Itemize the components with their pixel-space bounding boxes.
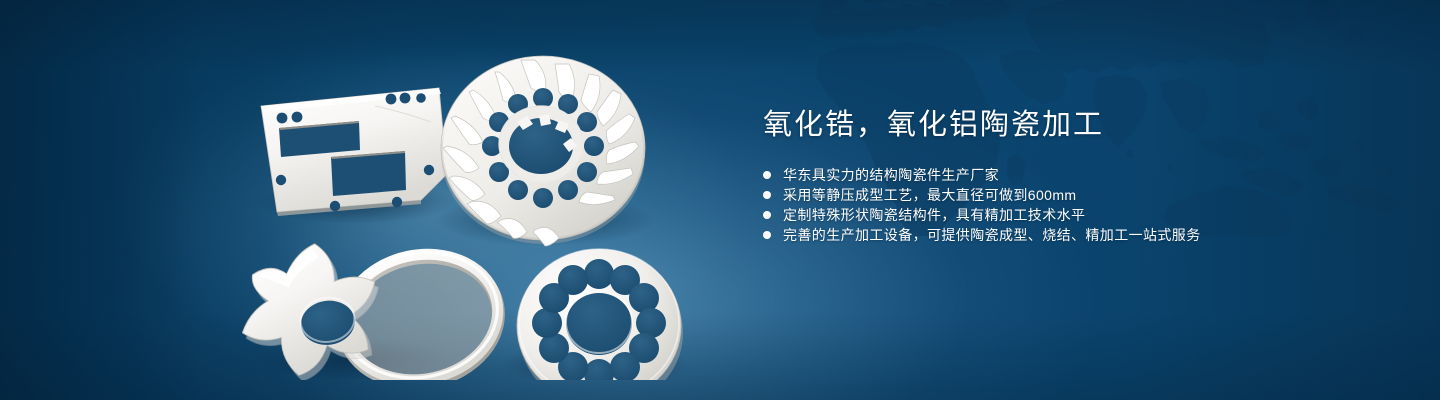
bullet-dot-icon [763,231,771,239]
bullet-dot-icon [763,171,771,179]
product-ceramic-plate [261,88,447,216]
bullet-dot-icon [763,211,771,219]
page-title: 氧化锆，氧化铝陶瓷加工 [763,108,1383,143]
product-ceramic-perforated-disc [517,249,683,380]
feature-text: 采用等静压成型工艺，最大直径可做到600mm [783,185,1076,205]
list-item: 华东具实力的结构陶瓷件生产厂家 [763,165,1383,185]
banner-text-block: 氧化锆，氧化铝陶瓷加工 华东具实力的结构陶瓷件生产厂家 采用等静压成型工艺，最大… [763,108,1383,245]
product-photo-collage [225,30,715,380]
feature-text: 完善的生产加工设备，可提供陶瓷成型、烧结、精加工一站式服务 [783,225,1201,245]
feature-text: 华东具实力的结构陶瓷件生产厂家 [783,165,999,185]
bullet-dot-icon [763,191,771,199]
list-item: 完善的生产加工设备，可提供陶瓷成型、烧结、精加工一站式服务 [763,225,1383,245]
list-item: 采用等静压成型工艺，最大直径可做到600mm [763,185,1383,205]
product-ceramic-impeller [441,56,645,246]
promo-banner: 氧化锆，氧化铝陶瓷加工 华东具实力的结构陶瓷件生产厂家 采用等静压成型工艺，最大… [0,0,1440,400]
list-item: 定制特殊形状陶瓷结构件，具有精加工技术水平 [763,205,1383,225]
feature-list: 华东具实力的结构陶瓷件生产厂家 采用等静压成型工艺，最大直径可做到600mm 定… [763,165,1383,245]
feature-text: 定制特殊形状陶瓷结构件，具有精加工技术水平 [783,205,1085,225]
